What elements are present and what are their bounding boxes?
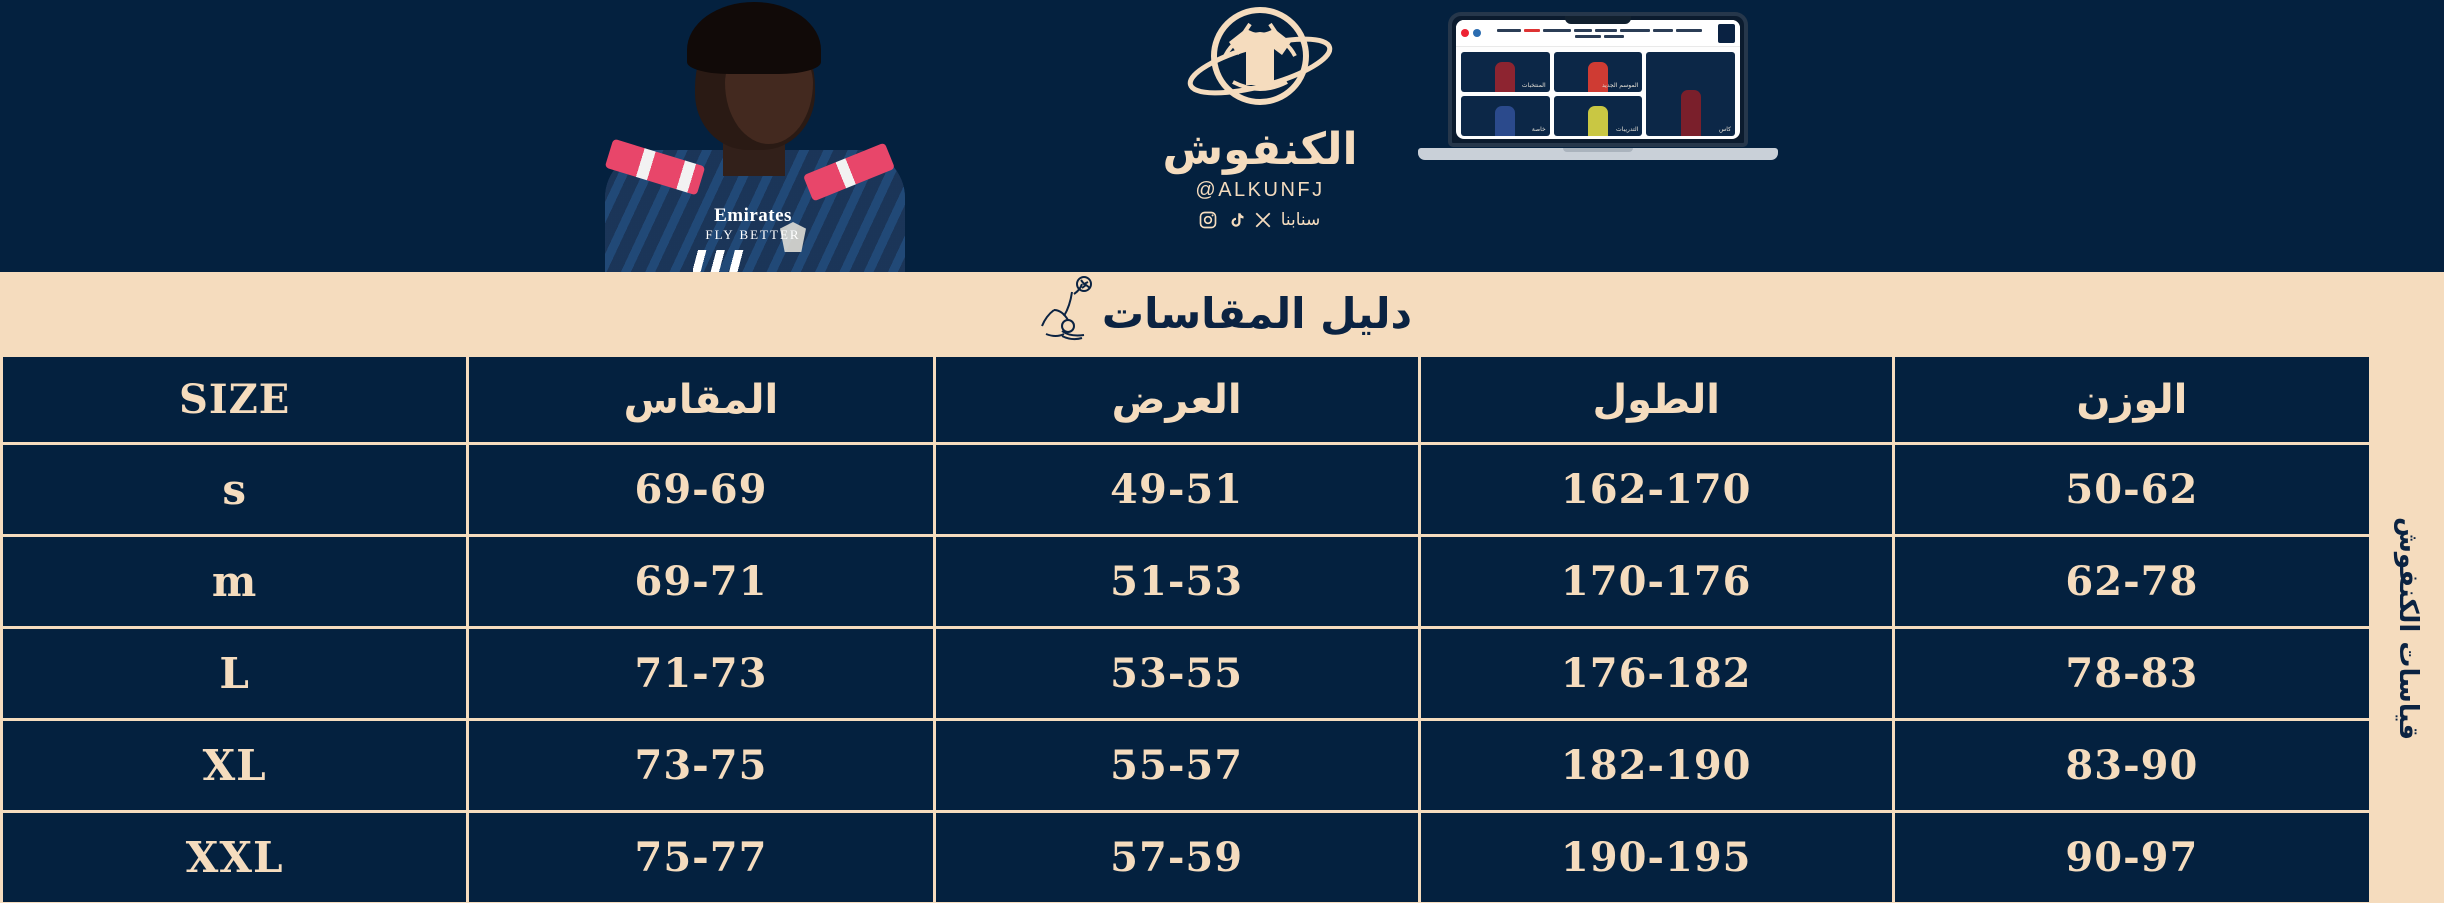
cell-height: 182-190 [1419,720,1893,812]
bicycle-kick-icon [1032,274,1096,353]
cell-measure: 71-73 [468,628,934,720]
snapchat-label[interactable]: سنابنا [1281,210,1321,230]
table-row: 62-78 170-176 51-53 69-71 m [2,536,2371,628]
product-card: الموسم الجديد [1554,52,1643,92]
cell-size: m [2,536,468,628]
column-header-size: SIZE [2,356,468,444]
column-header-weight: الوزن [1893,356,2370,444]
nav-item [1543,29,1571,32]
brand-logo-block: الكنفوش @ALKUNFJ [1110,4,1410,272]
sponsor-subtitle: FLY BETTER [683,227,823,243]
size-table-wrapper: الوزن الطول العرض المقاس SIZE 50-62 162-… [0,354,2372,903]
cell-width: 49-51 [934,444,1419,536]
site-nav-links [1492,29,1707,38]
laptop-screen: كاس الموسم الجديد المنتخبات التدريب [1456,20,1740,139]
cell-height: 190-195 [1419,812,1893,903]
column-header-width: العرض [934,356,1419,444]
cell-weight: 78-83 [1893,628,2370,720]
cell-height: 176-182 [1419,628,1893,720]
nav-item [1497,29,1521,32]
cell-size: XXL [2,812,468,903]
tiktok-icon[interactable] [1227,210,1245,230]
cell-weight: 62-78 [1893,536,2370,628]
product-card-grid: كاس الموسم الجديد المنتخبات التدريب [1456,47,1740,139]
page-title: دليل المقاسات [1102,289,1412,338]
cell-width: 53-55 [934,628,1419,720]
card-label: الموسم الجديد [1602,82,1638,89]
nav-item [1653,29,1673,32]
product-card: التدريبات [1554,96,1643,136]
card-label: كاس [1719,126,1731,133]
player-hair [687,2,821,74]
brand-name-arabic: الكنفوش [1162,128,1357,172]
nav-item [1595,29,1617,32]
size-table: الوزن الطول العرض المقاس SIZE 50-62 162-… [0,354,2372,903]
site-navbar [1456,20,1740,47]
table-row: 90-97 190-195 57-59 75-77 XXL [2,812,2371,903]
cell-height: 170-176 [1419,536,1893,628]
cell-measure: 69-69 [468,444,934,536]
player-thumb [1495,62,1515,92]
cell-size: L [2,628,468,720]
laptop-mockup: كاس الموسم الجديد المنتخبات التدريب [1418,12,1778,172]
laptop-notch [1565,16,1631,24]
size-guide-page: Emirates FLY BETTER الكنفوش @ALKUNFJ [0,0,2444,903]
nav-item [1574,29,1592,32]
column-header-height: الطول [1419,356,1893,444]
adidas-stripes-icon [693,250,771,272]
page-title-bar: دليل المقاسات [0,272,2444,354]
cell-width: 55-57 [934,720,1419,812]
cell-size: s [2,444,468,536]
product-card: خاصة [1461,96,1550,136]
product-card: كاس [1646,52,1735,136]
cell-measure: 69-71 [468,536,934,628]
side-note-strip: قياسات الكنفوش [2372,354,2444,903]
player-thumb [1495,106,1515,136]
nav-item [1676,29,1702,32]
sponsor-name: Emirates [714,205,792,226]
cell-measure: 73-75 [468,720,934,812]
nav-item [1620,29,1650,32]
nav-item [1575,35,1601,38]
tshirt-in-football-planet-icon [1185,4,1335,126]
cell-weight: 83-90 [1893,720,2370,812]
header-banner: Emirates FLY BETTER الكنفوش @ALKUNFJ [0,0,2444,272]
site-logo-icon [1718,24,1735,43]
product-card: المنتخبات [1461,52,1550,92]
account-icon [1473,29,1481,37]
cell-height: 162-170 [1419,444,1893,536]
card-label: المنتخبات [1522,82,1546,89]
nav-item-offers [1524,29,1540,32]
cart-icon [1461,29,1469,37]
side-note-text: قياسات الكنفوش [2393,517,2423,740]
table-row: 50-62 162-170 49-51 69-69 s [2,444,2371,536]
cell-weight: 90-97 [1893,812,2370,903]
site-header-icons [1461,29,1481,37]
cell-width: 57-59 [934,812,1419,903]
brand-handle: @ALKUNFJ [1195,179,1324,202]
laptop-base [1418,148,1778,160]
table-row: 83-90 182-190 55-57 73-75 XL [2,720,2371,812]
cell-measure: 75-77 [468,812,934,903]
nav-item [1604,35,1624,38]
instagram-icon[interactable] [1198,210,1218,230]
player-thumb [1681,90,1701,136]
card-label: خاصة [1532,126,1546,133]
cell-size: XL [2,720,468,812]
social-links[interactable]: سنابنا [1198,210,1323,230]
column-header-measure: المقاس [468,356,934,444]
x-twitter-icon[interactable] [1254,211,1272,229]
cell-weight: 50-62 [1893,444,2370,536]
card-label: التدريبات [1616,126,1638,133]
table-row: 78-83 176-182 53-55 71-73 L [2,628,2371,720]
jersey-sponsor-text: Emirates FLY BETTER [683,205,823,243]
player-thumb [1588,106,1608,136]
cell-width: 51-53 [934,536,1419,628]
player-photo: Emirates FLY BETTER [565,0,910,272]
laptop-lid: كاس الموسم الجديد المنتخبات التدريب [1448,12,1748,147]
table-header-row: الوزن الطول العرض المقاس SIZE [2,356,2371,444]
